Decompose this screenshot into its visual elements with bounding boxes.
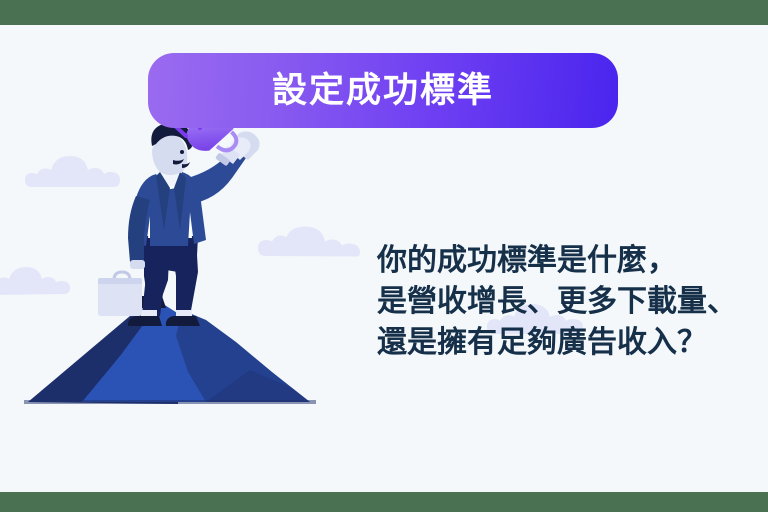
head xyxy=(151,123,192,175)
hero-illustration xyxy=(10,120,340,480)
body-line-1: 你的成功標準是什麼， xyxy=(377,240,747,281)
body-line-2: 是營收增長、更多下載量、 xyxy=(377,281,747,322)
trousers xyxy=(142,236,198,316)
letterbox-bar-top xyxy=(0,0,768,25)
body-line-3: 還是擁有足夠廣告收入？ xyxy=(377,322,747,363)
title-banner: 設定成功標準 xyxy=(148,53,618,128)
page-title: 設定成功標準 xyxy=(272,73,494,108)
letterbox-bar-bottom xyxy=(0,492,768,512)
slide-canvas: 設定成功標準 xyxy=(0,0,768,512)
slide-stage: 設定成功標準 xyxy=(0,25,768,492)
briefcase-icon xyxy=(98,260,145,316)
body-copy: 你的成功標準是什麼， 是營收增長、更多下載量、 還是擁有足夠廣告收入？ xyxy=(377,240,747,363)
